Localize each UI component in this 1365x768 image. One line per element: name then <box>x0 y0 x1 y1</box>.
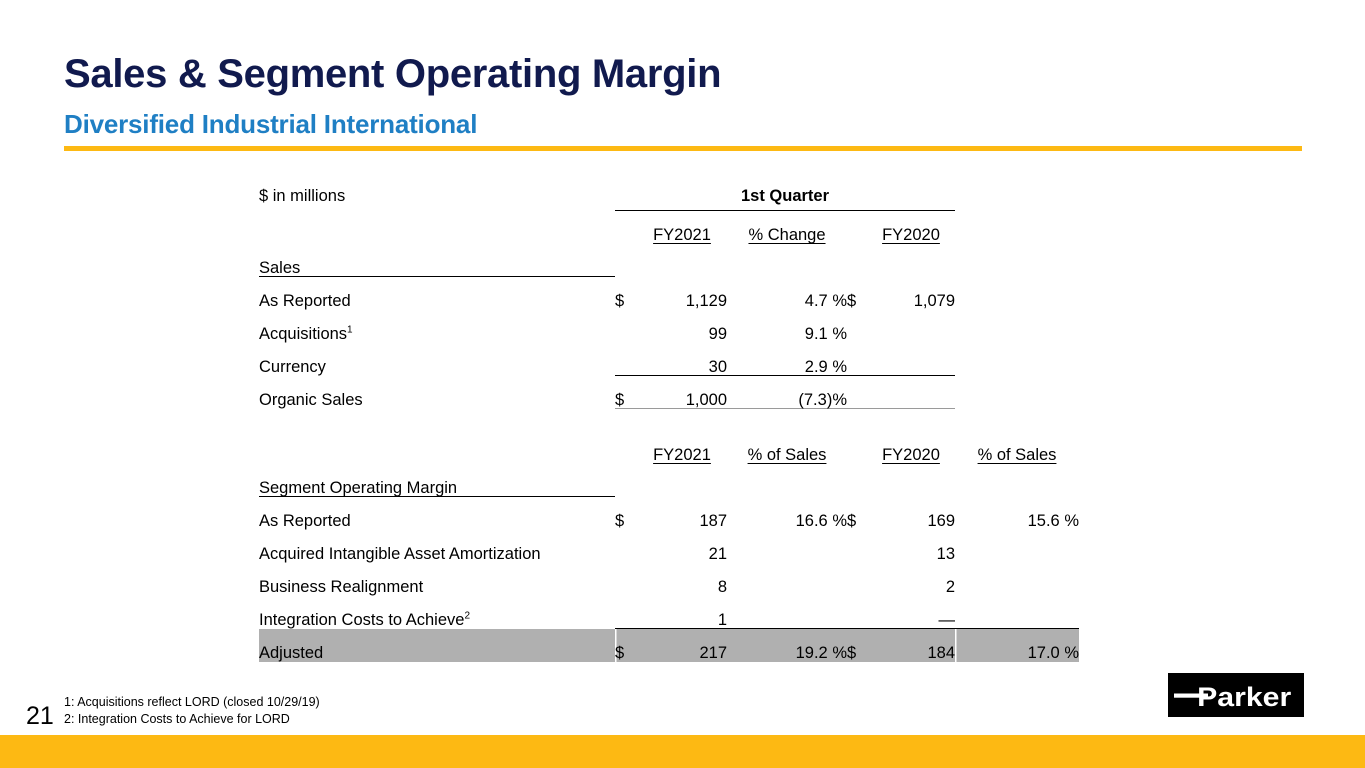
row-change: 2.9 % <box>727 343 847 376</box>
sales-header-blank-right <box>955 211 1079 244</box>
row-pct-current <box>727 563 847 596</box>
footnote-marker: 1 <box>347 325 353 336</box>
row-currency-prior <box>847 310 867 343</box>
row-currency-prior: $ <box>847 629 867 662</box>
row-label: Adjusted <box>259 629 615 662</box>
row-blank-right <box>955 310 1079 343</box>
table-row-sales-header: FY2021 % Change FY2020 <box>259 211 1079 244</box>
row-pct-current: 19.2 % <box>727 629 847 662</box>
row-value-current: 30 <box>637 343 727 376</box>
row-blank-right <box>955 376 1079 409</box>
table-row: Currency 30 2.9 % <box>259 343 1079 376</box>
table-row: As Reported $ 1,129 4.7 % $ 1,079 <box>259 277 1079 310</box>
margin-section-title: Segment Operating Margin <box>259 464 615 497</box>
margin-header-pct-current: % of Sales <box>727 431 847 464</box>
table-row-margin-section: Segment Operating Margin <box>259 464 1079 497</box>
footnote-marker: 2 <box>464 611 470 622</box>
margin-header-pct-prior: % of Sales <box>955 431 1079 464</box>
row-value-prior <box>867 343 955 376</box>
row-currency-current: $ <box>615 497 637 530</box>
row-value-current: 217 <box>637 629 727 662</box>
margin-header-cur2 <box>847 431 867 464</box>
margin-section-spacer <box>615 464 1079 497</box>
row-value-prior: 13 <box>867 530 955 563</box>
row-label: Integration Costs to Achieve <box>259 611 464 629</box>
row-currency-prior: $ <box>847 497 867 530</box>
row-pct-prior: 17.0 % <box>955 629 1079 662</box>
row-value-current: 1,000 <box>637 376 727 409</box>
row-label: Acquisitions <box>259 325 347 343</box>
section-spacer <box>259 409 1079 431</box>
row-pct-prior: 15.6 % <box>955 497 1079 530</box>
row-value-current: 187 <box>637 497 727 530</box>
row-currency-prior <box>847 343 867 376</box>
units-label: $ in millions <box>259 171 615 204</box>
parker-logo: Parker <box>1168 673 1304 717</box>
row-currency-prior <box>847 376 867 409</box>
row-currency-current <box>615 563 637 596</box>
row-label: Business Realignment <box>259 563 615 596</box>
page-subtitle: Diversified Industrial International <box>64 109 477 140</box>
table-row: Acquisitions1 99 9.1 % <box>259 310 1079 343</box>
row-currency-prior <box>847 530 867 563</box>
row-value-prior <box>867 376 955 409</box>
sales-section-spacer <box>615 244 1079 277</box>
row-label: As Reported <box>259 497 615 530</box>
sales-header-fy-current: FY2021 <box>637 211 727 244</box>
row-value-prior: — <box>867 596 955 629</box>
row-label-integration: Integration Costs to Achieve2 <box>259 596 615 629</box>
margin-header-cur1 <box>615 431 637 464</box>
table-row-sales-section: Sales <box>259 244 1079 277</box>
sales-header-cur1 <box>615 211 637 244</box>
row-value-current: 21 <box>637 530 727 563</box>
period-header: 1st Quarter <box>615 171 955 204</box>
table-row: As Reported $ 187 16.6 % $ 169 15.6 % <box>259 497 1079 530</box>
svg-text:Parker: Parker <box>1197 682 1291 712</box>
table-row: Acquired Intangible Asset Amortization 2… <box>259 530 1079 563</box>
sales-header-change: % Change <box>727 211 847 244</box>
row-value-prior: 1,079 <box>867 277 955 310</box>
row-label-acquisitions: Acquisitions1 <box>259 310 615 343</box>
row-label: As Reported <box>259 277 615 310</box>
row-blank-right <box>955 343 1079 376</box>
row-value-prior: 184 <box>867 629 955 662</box>
row-value-prior <box>867 310 955 343</box>
row-change: 4.7 % <box>727 277 847 310</box>
row-blank-right <box>955 277 1079 310</box>
table-row-period-header: $ in millions 1st Quarter <box>259 171 1079 204</box>
row-pct-current <box>727 596 847 629</box>
row-currency-current: $ <box>615 376 637 409</box>
row-change: 9.1 % <box>727 310 847 343</box>
row-currency-prior <box>847 596 867 629</box>
row-label: Organic Sales <box>259 376 615 409</box>
row-label: Acquired Intangible Asset Amortization <box>259 530 615 563</box>
row-currency-prior <box>847 563 867 596</box>
row-pct-current: 16.6 % <box>727 497 847 530</box>
row-value-current: 8 <box>637 563 727 596</box>
row-pct-current <box>727 530 847 563</box>
row-value-current: 1 <box>637 596 727 629</box>
parker-wordmark-icon: Parker <box>1168 673 1304 717</box>
sales-header-fy-prior: FY2020 <box>867 211 955 244</box>
row-currency-current <box>615 310 637 343</box>
row-pct-prior <box>955 596 1079 629</box>
row-pct-prior <box>955 563 1079 596</box>
row-currency-current <box>615 596 637 629</box>
row-currency-current <box>615 530 637 563</box>
margin-header-fy-current: FY2021 <box>637 431 727 464</box>
row-value-prior: 2 <box>867 563 955 596</box>
table-row-spacer <box>259 409 1079 431</box>
row-currency-current <box>615 343 637 376</box>
row-label: Currency <box>259 343 615 376</box>
table-row: Organic Sales $ 1,000 (7.3)% <box>259 376 1079 409</box>
page-title: Sales & Segment Operating Margin <box>64 52 721 97</box>
footnote-line-1: 1: Acquisitions reflect LORD (closed 10/… <box>64 694 320 711</box>
row-change: (7.3)% <box>727 376 847 409</box>
row-currency-prior: $ <box>847 277 867 310</box>
table-row-adjusted: Adjusted $ 217 19.2 % $ 184 17.0 % <box>259 629 1079 662</box>
row-pct-prior <box>955 530 1079 563</box>
financial-table: $ in millions 1st Quarter FY2021 % Chang… <box>259 171 1079 662</box>
sales-section-title: Sales <box>259 244 615 277</box>
sales-header-cur2 <box>847 211 867 244</box>
page-number: 21 <box>26 702 54 731</box>
table-row: Integration Costs to Achieve2 1 — <box>259 596 1079 629</box>
period-header-spacer <box>955 171 1079 204</box>
title-accent-rule <box>64 146 1302 151</box>
table-row-margin-header: FY2021 % of Sales FY2020 % of Sales <box>259 431 1079 464</box>
footnotes: 1: Acquisitions reflect LORD (closed 10/… <box>64 694 320 728</box>
row-value-current: 1,129 <box>637 277 727 310</box>
row-currency-current: $ <box>615 629 637 662</box>
margin-header-blank <box>259 431 615 464</box>
row-value-current: 99 <box>637 310 727 343</box>
row-currency-current: $ <box>615 277 637 310</box>
table-row: Business Realignment 8 2 <box>259 563 1079 596</box>
sales-header-blank <box>259 211 615 244</box>
bottom-accent-bar <box>0 735 1365 768</box>
margin-header-fy-prior: FY2020 <box>867 431 955 464</box>
row-value-prior: 169 <box>867 497 955 530</box>
footnote-line-2: 2: Integration Costs to Achieve for LORD <box>64 711 320 728</box>
